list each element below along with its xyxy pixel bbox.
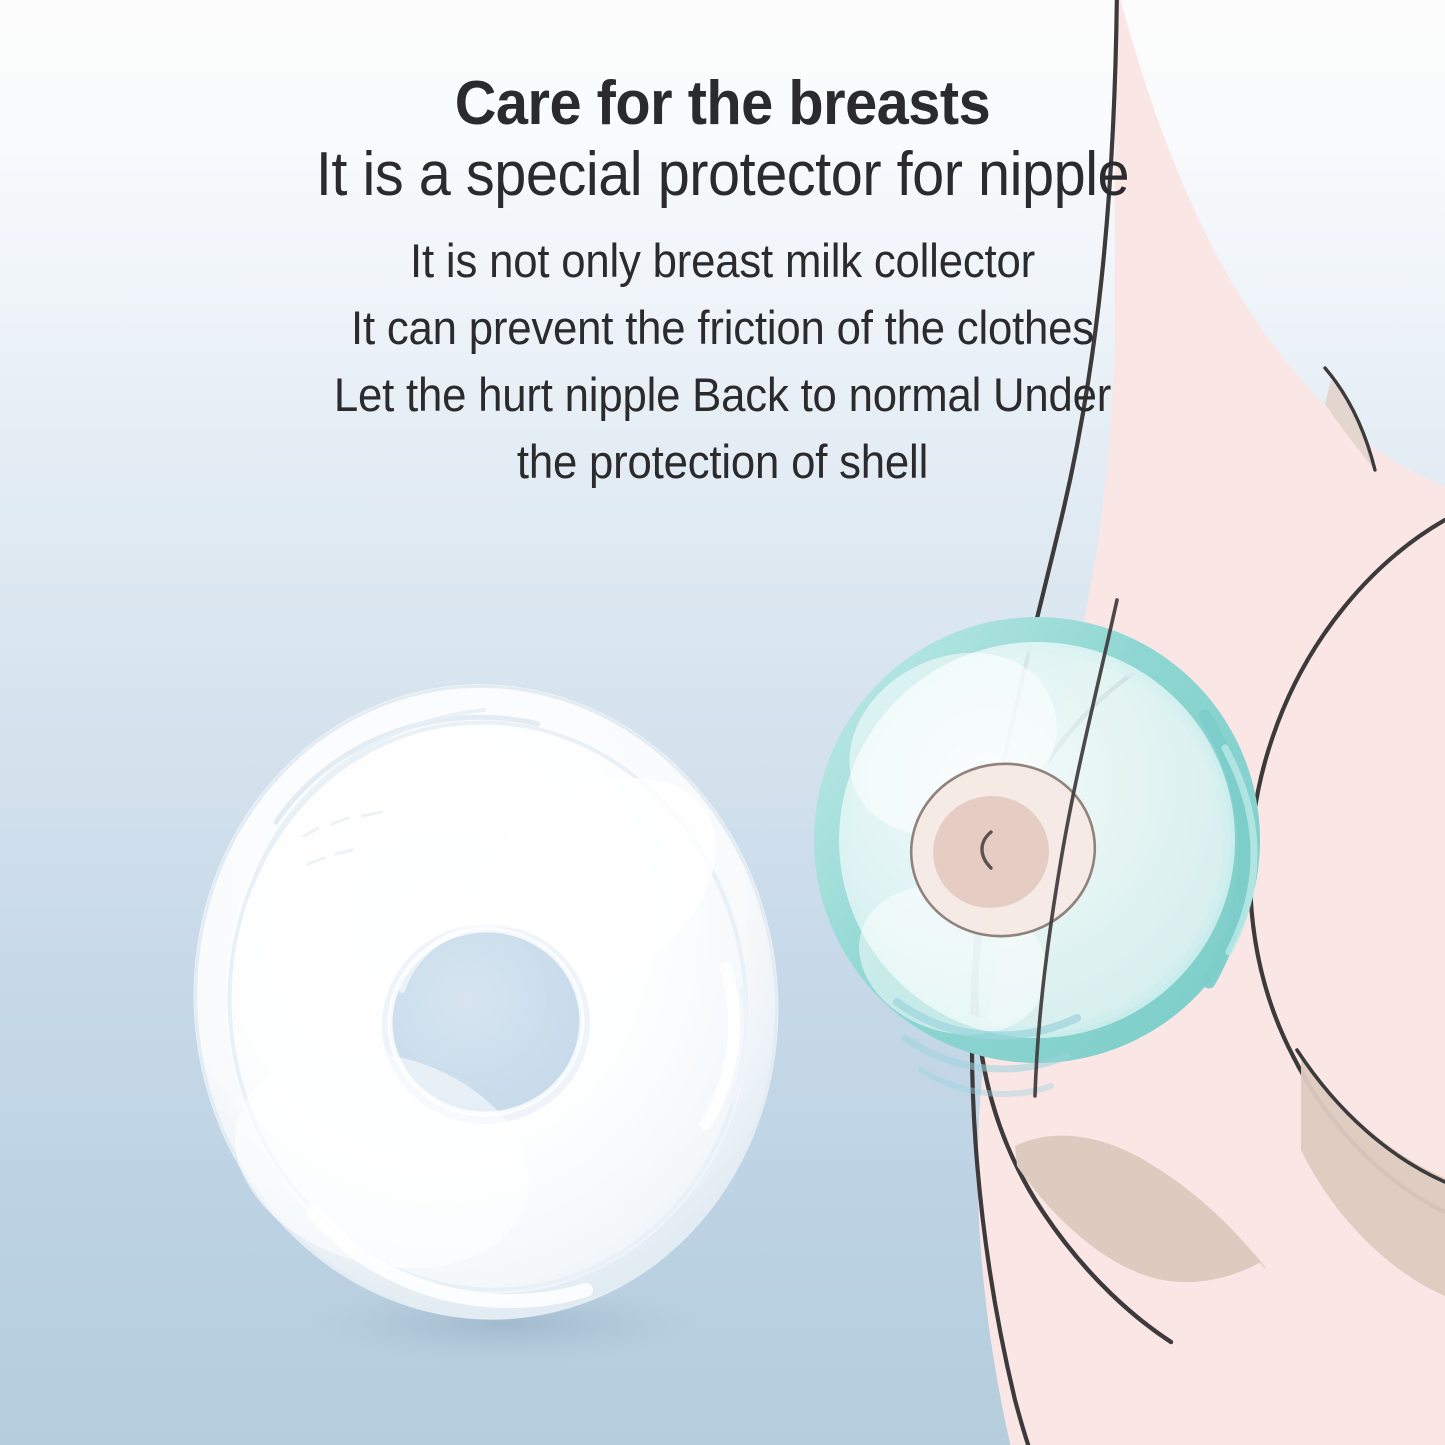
headline-secondary: It is a special protector for nipple [51,143,1395,206]
product-shell-photo [186,672,796,1362]
description-line-2: It can prevent the friction of the cloth… [51,295,1395,362]
marketing-copy: Care for the breasts It is a special pro… [0,72,1445,495]
description-line-3: Let the hurt nipple Back to normal Under [51,362,1395,429]
product-marketing-banner: Care for the breasts It is a special pro… [0,0,1445,1445]
description-line-4: the protection of shell [51,429,1395,496]
headline-primary: Care for the breasts [51,72,1395,135]
description-line-1: It is not only breast milk collector [51,228,1395,295]
